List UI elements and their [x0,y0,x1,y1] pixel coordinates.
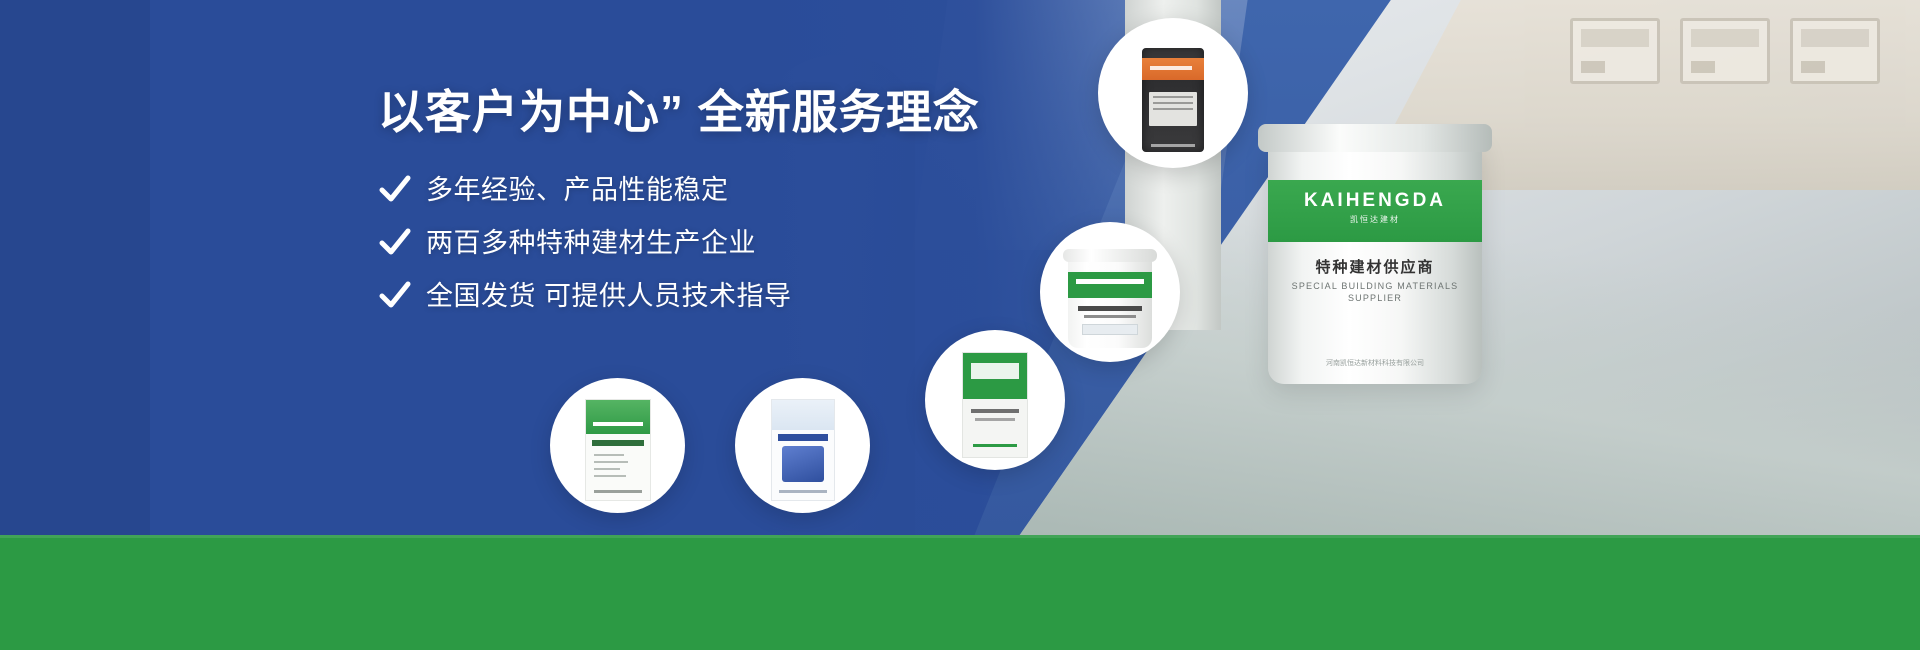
bucket-company: 河南凯恒达新材料科技有限公司 [1268,358,1482,368]
bucket-cn-title: 特种建材供应商 [1268,256,1482,277]
sack-white-graphic [585,399,651,501]
paint-bucket-graphic [1068,256,1152,348]
sack-green-graphic [962,352,1028,458]
product-circle-sack-white [550,378,685,513]
bucket-lid [1258,124,1492,152]
machine-unit [1790,18,1880,84]
check-icon [378,226,412,260]
cement-bag-graphic [1142,48,1204,152]
bucket-brand-sub: 凯恒达建材 [1268,214,1482,225]
bucket-brand-text: KAIHENGDA [1304,190,1446,211]
product-circle-sack-green [925,330,1065,470]
green-bottom-bar [0,535,1920,650]
bullet-item: 全国发货 可提供人员技术指导 [378,279,1018,313]
machine-unit [1680,18,1770,84]
bullet-text: 全国发货 可提供人员技术指导 [426,280,792,312]
bullet-item: 多年经验、产品性能稳定 [378,173,1018,207]
bucket-brand: KAIHENGDA 凯恒达建材 [1268,190,1482,225]
bullet-text: 多年经验、产品性能稳定 [426,174,729,206]
sack-blue-graphic [771,399,835,501]
banner-copy: 以客户为中心” 全新服务理念 多年经验、产品性能稳定 两百多种特种建材生产企业 … [378,86,1018,332]
bullet-item: 两百多种特种建材生产企业 [378,226,1018,260]
hero-product-bucket: KAIHENGDA 凯恒达建材 特种建材供应商 SPECIAL BUILDING… [1268,138,1482,384]
banner-headline: 以客户为中心” 全新服务理念 [378,86,1018,139]
banner-bullet-list: 多年经验、产品性能稳定 两百多种特种建材生产企业 全国发货 可提供人员技术指导 [378,173,1018,313]
bullet-text: 两百多种特种建材生产企业 [426,227,756,259]
product-circle-cement-bag [1098,18,1248,168]
bucket-en-title: SPECIAL BUILDING MATERIALS SUPPLIER [1268,280,1482,304]
hero-banner: KAIHENGDA 凯恒达建材 特种建材供应商 SPECIAL BUILDING… [0,0,1920,650]
check-icon [378,173,412,207]
product-circle-sack-blue [735,378,870,513]
machine-unit [1570,18,1660,84]
check-icon [378,279,412,313]
